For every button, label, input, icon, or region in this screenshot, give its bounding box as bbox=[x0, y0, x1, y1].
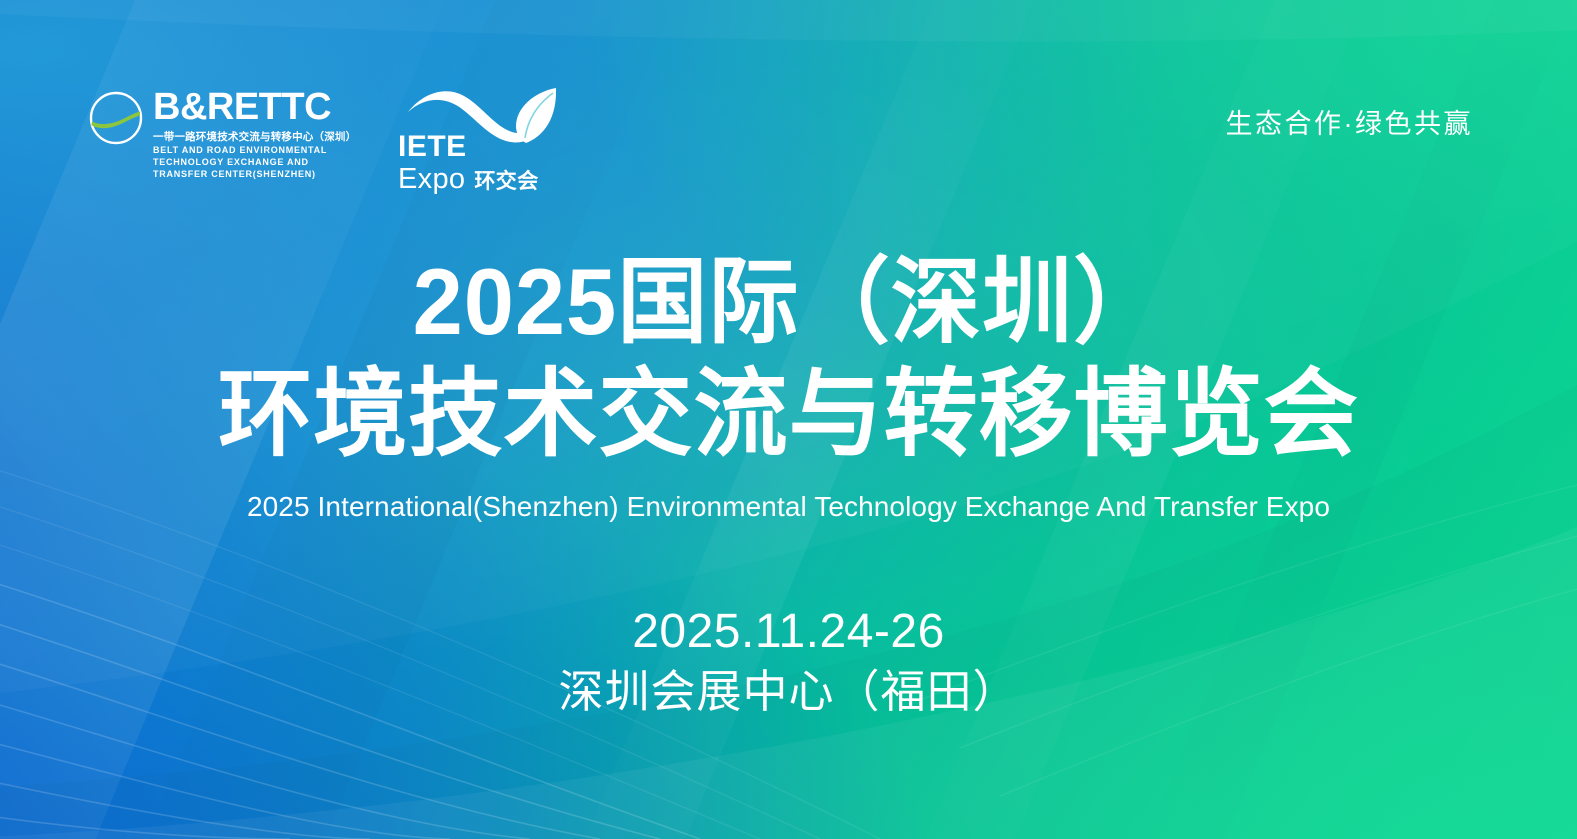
banner-header: B&RETTC 一带一路环境技术交流与转移中心（深圳） BELT AND ROA… bbox=[0, 0, 1577, 200]
event-date: 2025.11.24-26 bbox=[0, 605, 1577, 659]
title-line-2: 环境技术交流与转移博览会 bbox=[16, 367, 1561, 463]
event-info-block: 2025.11.24-26 深圳会展中心（福田） bbox=[0, 605, 1577, 718]
event-venue: 深圳会展中心（福田） bbox=[0, 665, 1577, 718]
english-subtitle: 2025 International(Shenzhen) Environment… bbox=[0, 491, 1577, 523]
expo-banner: B&RETTC 一带一路环境技术交流与转移中心（深圳） BELT AND ROA… bbox=[0, 0, 1577, 839]
iete-expo-logo: IETE Expo 环交会 bbox=[398, 86, 558, 186]
circle-with-green-band-icon bbox=[88, 90, 144, 146]
iete-expo-word: Expo bbox=[398, 165, 465, 194]
header-tagline: 生态合作·绿色共赢 bbox=[1226, 86, 1474, 141]
title-line-1: 2025国际（深圳） bbox=[32, 255, 1546, 349]
iete-acronym: IETE bbox=[398, 132, 539, 162]
brettc-text-block: B&RETTC 一带一路环境技术交流与转移中心（深圳） BELT AND ROA… bbox=[153, 88, 358, 181]
brettc-logo: B&RETTC 一带一路环境技术交流与转移中心（深圳） BELT AND ROA… bbox=[88, 86, 358, 181]
brettc-chinese-name: 一带一路环境技术交流与转移中心（深圳） bbox=[153, 130, 358, 145]
iete-text-block: IETE Expo 环交会 bbox=[398, 132, 539, 194]
brettc-english-name: BELT AND ROAD ENVIRONMENTAL TECHNOLOGY E… bbox=[153, 145, 358, 181]
main-title-block: 2025国际（深圳） 环境技术交流与转移博览会 2025 Internation… bbox=[0, 255, 1577, 523]
iete-chinese-short: 环交会 bbox=[474, 171, 539, 192]
brettc-wordmark: B&RETTC bbox=[153, 88, 358, 126]
logo-group: B&RETTC 一带一路环境技术交流与转移中心（深圳） BELT AND ROA… bbox=[88, 86, 558, 186]
